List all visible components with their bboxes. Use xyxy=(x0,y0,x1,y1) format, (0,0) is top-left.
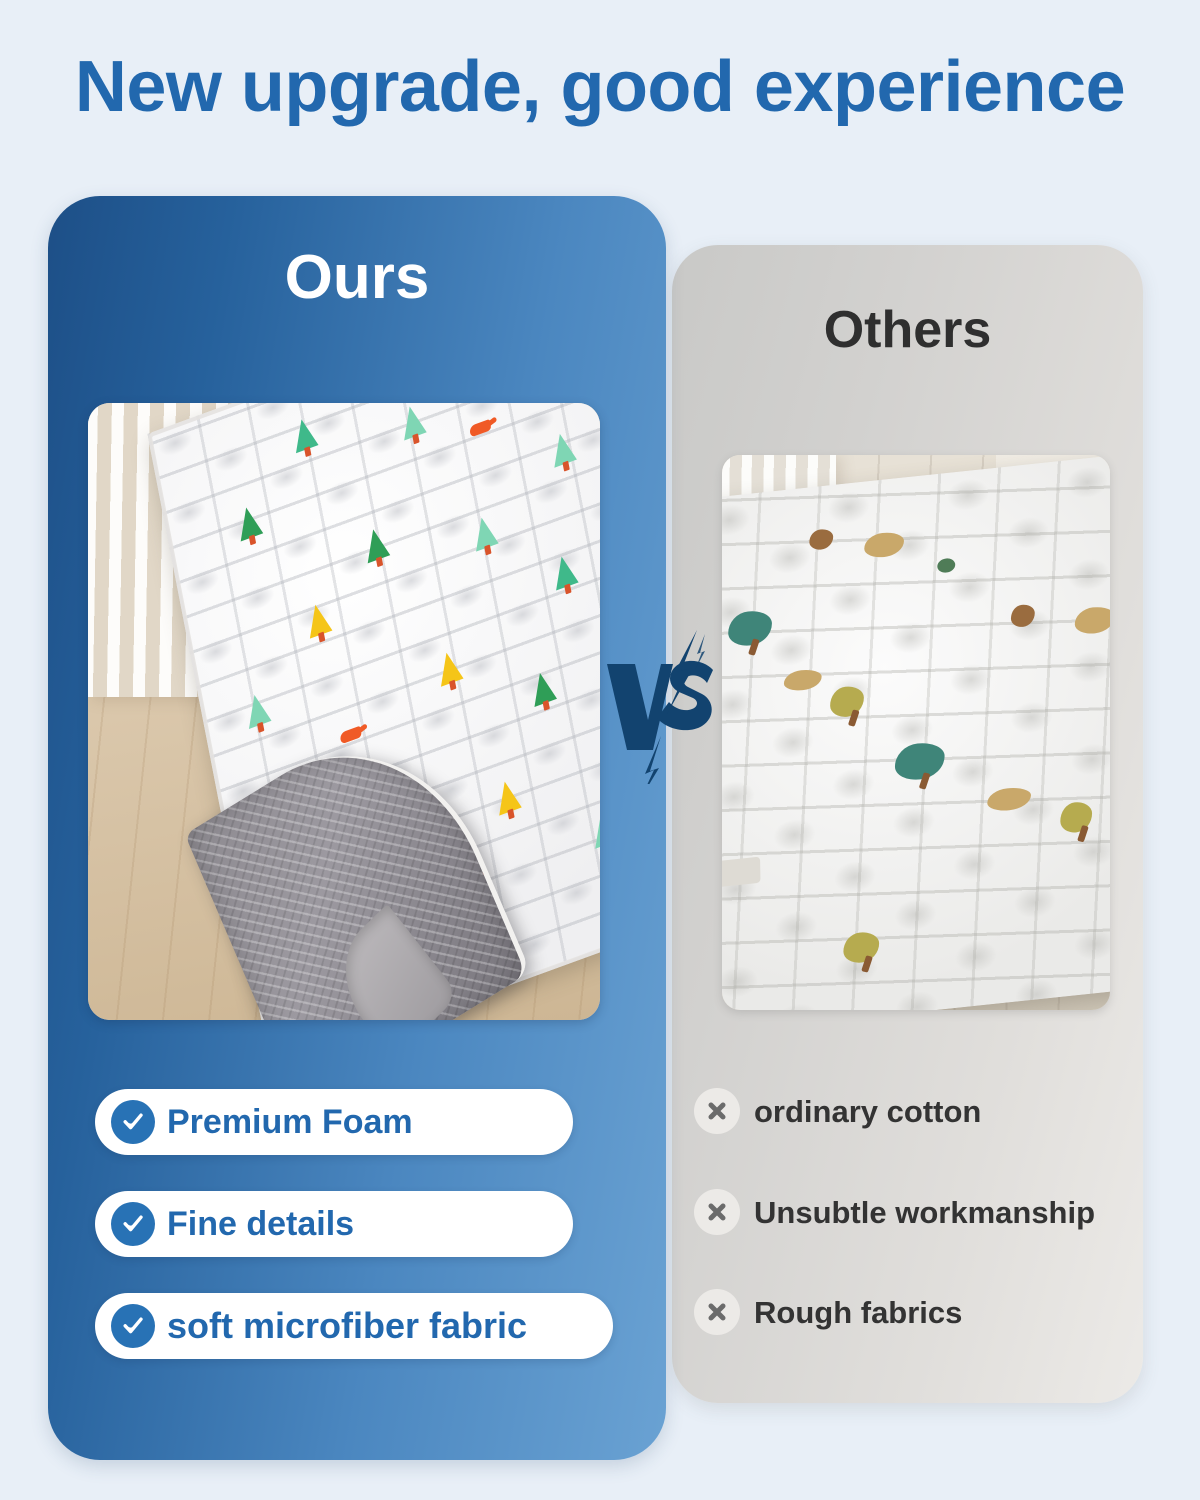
x-icon xyxy=(694,1189,740,1235)
check-icon xyxy=(111,1202,155,1246)
others-card-title: Others xyxy=(672,300,1143,360)
quilt-texture xyxy=(722,455,1110,1010)
drawback-label: Rough fabrics xyxy=(754,1297,962,1328)
drawback-row[interactable]: Unsubtle workmanship xyxy=(694,1189,1095,1235)
feature-label: soft microfiber fabric xyxy=(167,1308,527,1344)
page-title: New upgrade, good experience xyxy=(0,47,1200,127)
others-product-photo xyxy=(722,455,1110,1010)
feature-pill[interactable]: Fine details xyxy=(95,1191,573,1257)
ours-product-photo xyxy=(88,403,600,1020)
x-icon xyxy=(694,1289,740,1335)
drawback-row[interactable]: ordinary cotton xyxy=(694,1088,981,1134)
feature-label: Premium Foam xyxy=(167,1105,413,1139)
feature-pill[interactable]: Premium Foam xyxy=(95,1089,573,1155)
quilted-mat xyxy=(722,455,1110,1010)
drawback-label: Unsubtle workmanship xyxy=(754,1197,1095,1228)
feature-label: Fine details xyxy=(167,1207,354,1241)
check-icon xyxy=(111,1100,155,1144)
ours-card-title: Ours xyxy=(48,243,666,313)
x-icon xyxy=(694,1088,740,1134)
others-card: Others ordinary cotton xyxy=(672,245,1143,1403)
feature-pill[interactable]: soft microfiber fabric xyxy=(95,1293,613,1359)
vs-badge xyxy=(601,628,729,784)
drawback-row[interactable]: Rough fabrics xyxy=(694,1289,962,1335)
check-icon xyxy=(111,1304,155,1348)
fold-lip xyxy=(323,904,461,1020)
drawback-label: ordinary cotton xyxy=(754,1096,981,1127)
ours-card: Ours xyxy=(48,196,666,1460)
